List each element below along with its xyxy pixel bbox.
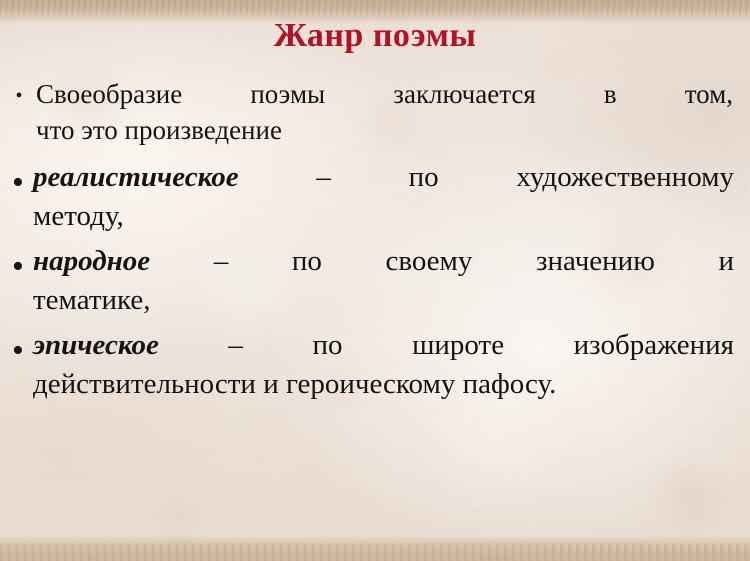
bullet-point-icon: • (8, 326, 28, 368)
bullet-item: • Своеобразие поэмы заключается в том, ч… (8, 76, 736, 148)
presentation-slide: Жанр поэмы • Своеобразие поэмы заключает… (0, 0, 750, 561)
bullet-point-icon: • (8, 158, 28, 200)
bullet-text-remainder: – по широте изображения (228, 329, 734, 361)
bullet-item: • народное – по своему значению и темати… (8, 242, 736, 320)
bullet-item-text: народное – по своему значению и тематике… (33, 242, 736, 320)
slide-content: Жанр поэмы • Своеобразие поэмы заключает… (0, 0, 750, 561)
bullet-text-remainder: – по художественному (316, 161, 734, 193)
bullet-point-icon: • (8, 242, 28, 284)
bullet-text-line: методу, (33, 197, 734, 236)
bullet-text-line: эпическое – по широте изображения (33, 326, 734, 365)
bullet-text-remainder: – по своему значению и (214, 245, 734, 277)
bullet-term-emphasis: эпическое (33, 329, 159, 361)
bullet-term-emphasis: реалистическое (33, 161, 239, 193)
bullet-text-line: тематике, (33, 281, 734, 320)
slide-title: Жанр поэмы (0, 16, 750, 56)
bullet-term-emphasis: народное (33, 245, 150, 277)
bullet-text-line: действительности и героическому пафосу. (33, 365, 734, 404)
bullet-item: • реалистическое – по художественному ме… (8, 158, 736, 236)
bullet-list: • Своеобразие поэмы заключается в том, ч… (8, 76, 736, 404)
bullet-item-text: реалистическое – по художественному мето… (33, 158, 736, 236)
bullet-point-icon: • (8, 76, 30, 106)
bullet-item-text: эпическое – по широте изображения действ… (33, 326, 736, 404)
bullet-text-line: реалистическое – по художественному (33, 158, 734, 197)
bullet-text-line: народное – по своему значению и (33, 242, 734, 281)
bullet-text-line: Своеобразие поэмы заключается в том, (36, 76, 733, 112)
bullet-item-text: Своеобразие поэмы заключается в том, что… (36, 76, 736, 148)
bullet-item: • эпическое – по широте изображения дейс… (8, 326, 736, 404)
bullet-text-line: что это произведение (36, 112, 733, 148)
